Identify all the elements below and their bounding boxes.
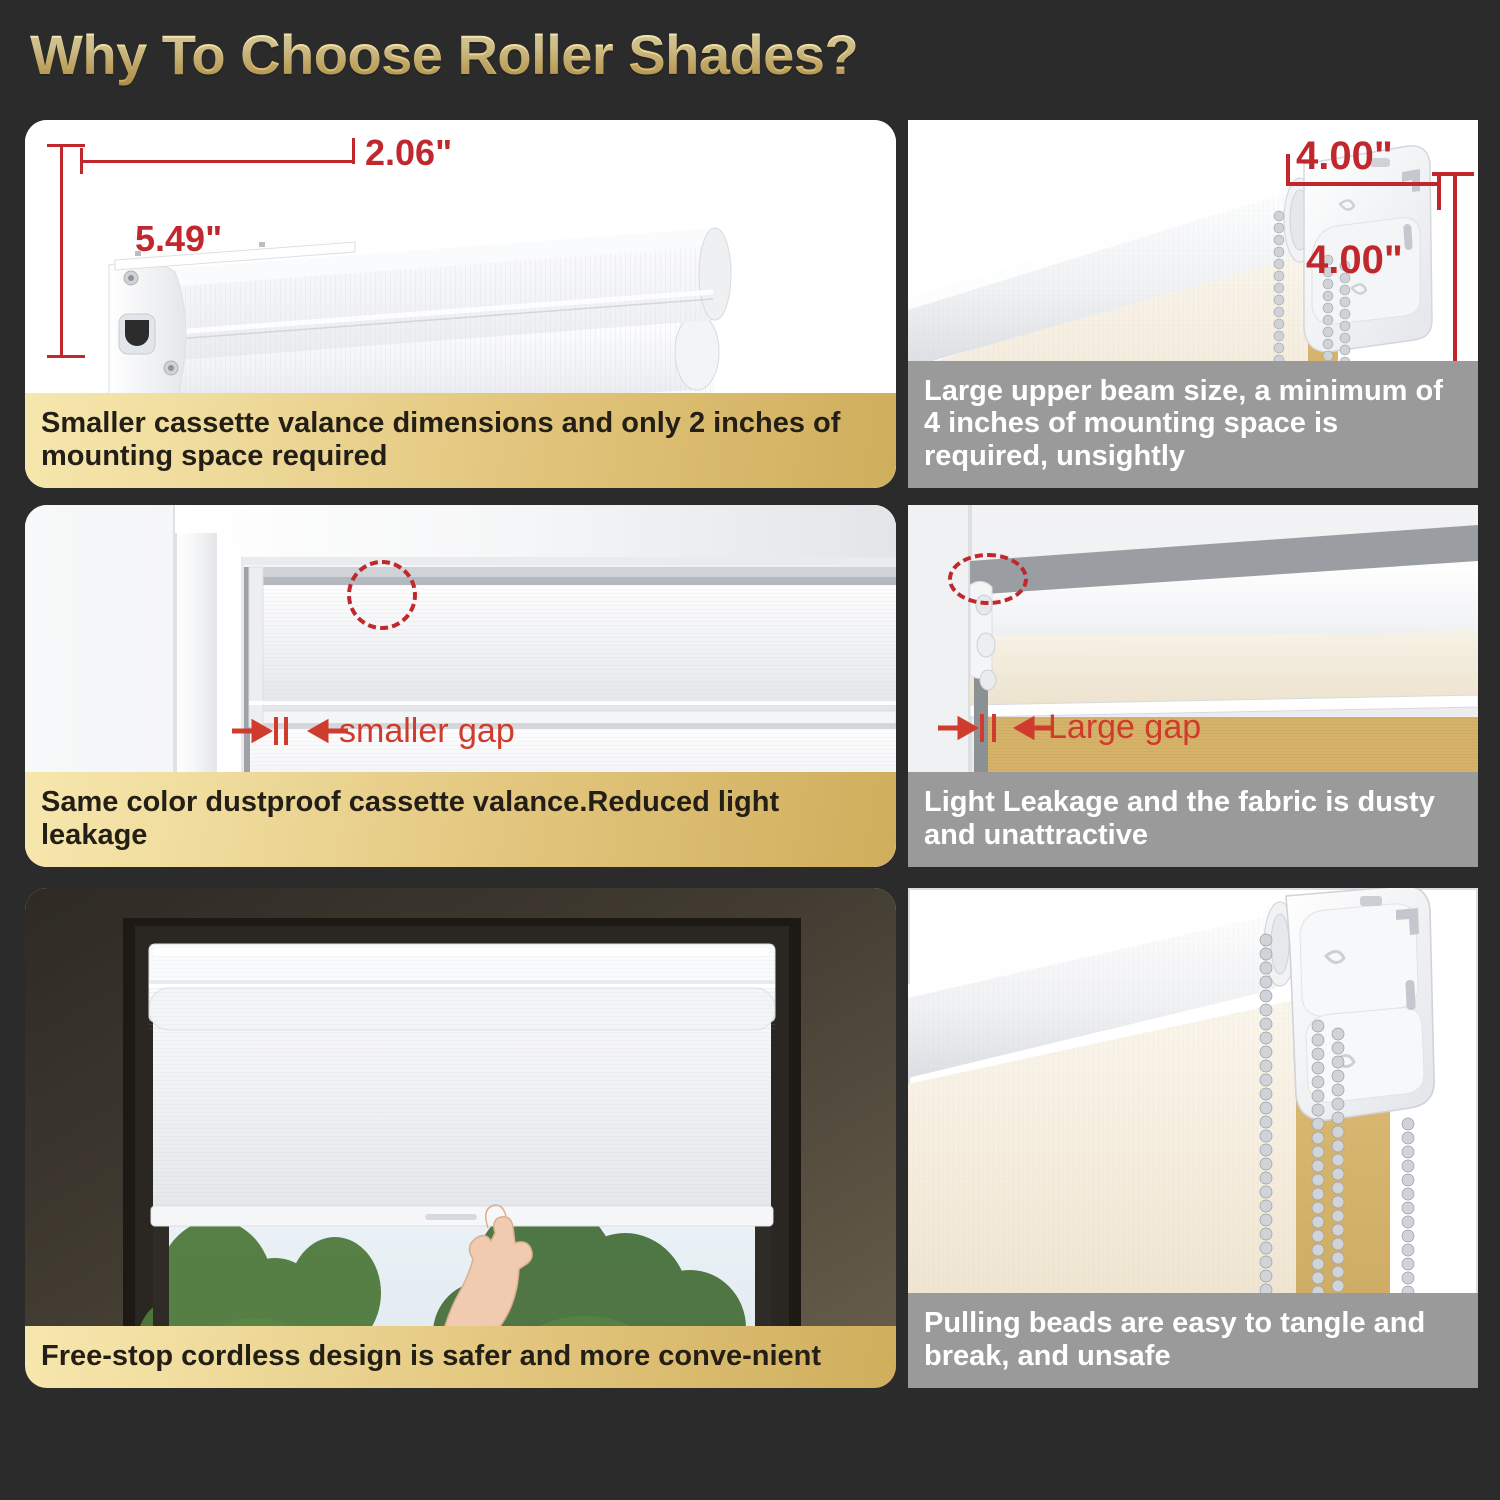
- gap-arrow-icon: [936, 710, 1056, 746]
- height-dimension-label: 5.49": [135, 218, 222, 260]
- height-dim-tick-bottom: [47, 355, 85, 358]
- width-dim-tick-left: [80, 148, 83, 174]
- panel-large-upper-beam: 4.00" 4.00" Large upper beam size, a min…: [908, 120, 1478, 488]
- caption-pulling-beads-tangle: Pulling beads are easy to tangle and bre…: [908, 1293, 1478, 1388]
- height-dim-line: [60, 144, 63, 358]
- page-title: Why To Choose Roller Shades?: [30, 22, 858, 87]
- width-dimension-label: 2.06": [365, 132, 452, 174]
- beam-height-tick-top: [1432, 172, 1474, 176]
- panel-pulling-beads-tangle: Pulling beads are easy to tangle and bre…: [908, 888, 1478, 1388]
- panel-smaller-cassette-valance: 5.49" 2.06" Smaller cassette valance dim…: [25, 120, 896, 488]
- panel-free-stop-cordless-design: Free-stop cordless design is safer and m…: [25, 888, 896, 1388]
- caption-light-leakage-dusty-fabric: Light Leakage and the fabric is dusty an…: [908, 772, 1478, 867]
- beam-height-dim-line: [1453, 172, 1457, 374]
- beam-width-tick-left: [1286, 154, 1290, 184]
- large-gap-label: Large gap: [1048, 708, 1201, 747]
- beam-width-dim-line: [1286, 182, 1441, 186]
- beam-width-label: 4.00": [1296, 134, 1393, 179]
- panel-dustproof-cassette-valance: smaller gap Same color dustproof cassett…: [25, 505, 896, 867]
- width-dim-tick-right: [352, 138, 355, 164]
- beam-width-tick-right: [1437, 176, 1441, 210]
- photo-cordless-window: [25, 888, 896, 1388]
- smaller-gap-label: smaller gap: [339, 712, 515, 751]
- caption-large-upper-beam: Large upper beam size, a minimum of 4 in…: [908, 361, 1478, 488]
- gap-arrow-icon: [230, 713, 350, 749]
- caption-smaller-cassette-valance: Smaller cassette valance dimensions and …: [25, 393, 896, 488]
- highlight-circle-icon: [347, 560, 417, 630]
- beam-height-label: 4.00": [1306, 238, 1403, 283]
- caption-free-stop-cordless-design: Free-stop cordless design is safer and m…: [25, 1326, 896, 1388]
- panel-light-leakage-dusty-fabric: Large gap Light Leakage and the fabric i…: [908, 505, 1478, 867]
- caption-dustproof-cassette-valance: Same color dustproof cassette valance.Re…: [25, 772, 896, 867]
- highlight-circle-icon: [948, 553, 1028, 605]
- width-dim-line: [80, 160, 355, 163]
- height-dim-tick-top: [47, 144, 85, 147]
